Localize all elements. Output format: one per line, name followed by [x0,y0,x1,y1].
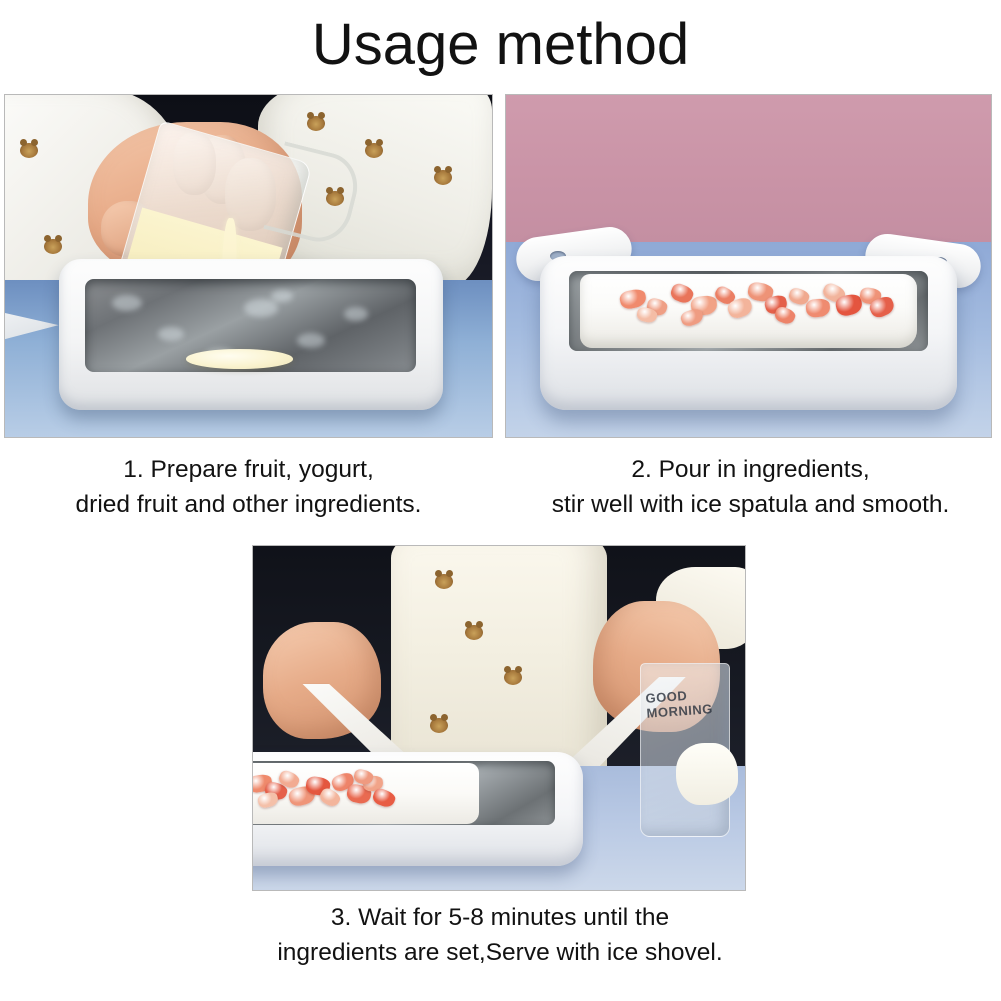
strawberry-piece [679,307,705,328]
page-title: Usage method [0,12,1001,78]
ice-cream-roll-tray [59,259,444,409]
step-1-caption-line-2: dried fruit and other ingredients. [0,487,497,522]
step-2-caption: 2. Pour in ingredients, stir well with i… [500,452,1001,522]
frost-patch [271,290,293,302]
bear-face-icon [20,143,38,158]
step-1-photo [4,94,493,438]
frost-patch [158,327,184,341]
step-3-photo: GOOD MORNING [252,545,746,891]
frost-patch [297,333,325,348]
bear-face-icon [435,574,453,589]
bear-face-icon [44,239,62,254]
bear-face-icon [430,718,448,733]
bear-face-icon [465,625,483,640]
good-morning-glass-cup: GOOD MORNING [640,663,731,837]
yogurt-scoop-in-cup [676,743,738,805]
step-3-caption-line-1: 3. Wait for 5-8 minutes until the [150,900,850,935]
ice-cream-roll-tray [253,752,583,866]
bear-face-icon [434,170,452,185]
set-frozen-yogurt [253,763,479,824]
strawberry-piece [371,786,397,809]
bear-face-icon [504,670,522,685]
step-2-caption-line-2: stir well with ice spatula and smooth. [500,487,1001,522]
frozen-metal-surface [253,761,555,825]
frozen-metal-surface [569,271,928,351]
step-2-caption-line-1: 2. Pour in ingredients, [500,452,1001,487]
strawberry-piece [773,305,797,326]
step-2-scene [506,95,991,437]
strawberry-piece [805,298,831,318]
step-2-photo [505,94,992,438]
infographic-page: Usage method [0,0,1001,1001]
spread-yogurt [580,274,917,348]
step-1-scene [5,95,492,437]
cup-text: GOOD MORNING [645,685,728,721]
strawberry-piece [256,791,279,810]
step-1-caption: 1. Prepare fruit, yogurt, dried fruit an… [0,452,497,522]
frost-patch [112,295,142,311]
frost-patch [344,307,368,321]
frost-patch [244,299,278,317]
step-3-caption: 3. Wait for 5-8 minutes until the ingred… [150,900,850,970]
step-1-caption-line-1: 1. Prepare fruit, yogurt, [0,452,497,487]
pink-wall [506,95,991,242]
step-3-caption-line-2: ingredients are set,Serve with ice shove… [150,935,850,970]
bear-face-icon [307,116,325,131]
ice-cream-roll-tray [540,256,957,410]
step-3-scene: GOOD MORNING [253,546,745,890]
poured-yogurt-pool [186,349,294,369]
